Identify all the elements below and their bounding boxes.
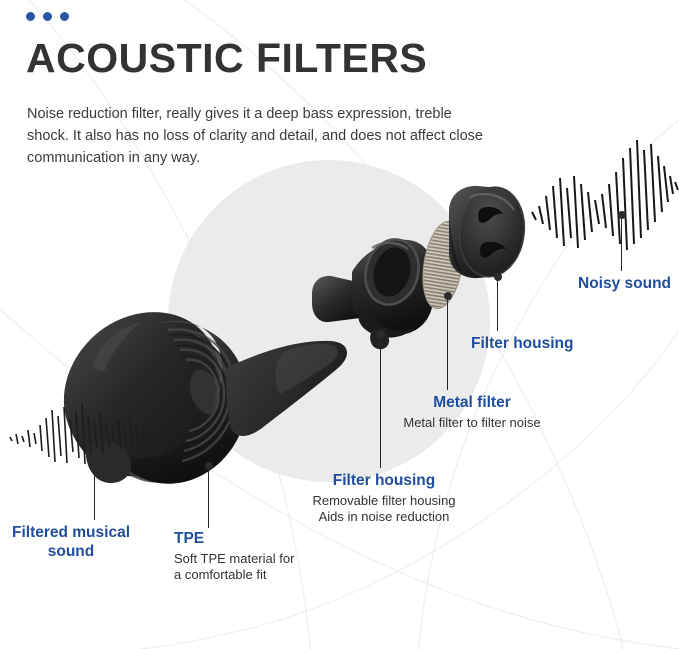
filtered-musical-waveform [10, 404, 156, 464]
leader-line-metal-filter [447, 300, 448, 390]
page-description: Noise reduction filter, really gives it … [27, 103, 497, 169]
callout-filter-housing-right: Filter housing [471, 335, 573, 354]
leader-line-tpe [208, 470, 209, 528]
header-dots [26, 12, 69, 21]
leader-line-filter-housing-center [380, 338, 381, 468]
callout-description-tpe-line1: Soft TPE material for [174, 551, 294, 567]
callout-caption-tpe: TPE [174, 530, 294, 549]
callout-description-filter-housing-line1: Removable filter housing [304, 493, 464, 509]
callout-description-tpe-line2: a comfortable fit [174, 567, 294, 583]
header-dot-1 [26, 12, 35, 21]
leader-line-noisy-sound [621, 219, 622, 271]
callout-caption-noisy-sound: Noisy sound [578, 275, 671, 294]
callout-filter-housing-center: Filter housing Removable filter housing … [304, 472, 464, 525]
callout-filtered-musical-sound: Filtered musical sound [5, 524, 137, 561]
leader-dot-filter-housing-center [377, 330, 385, 338]
callout-tpe: TPE Soft TPE material for a comfortable … [174, 530, 294, 583]
callout-description-filter-housing-line2: Aids in noise reduction [304, 509, 464, 525]
page-title: ACOUSTIC FILTERS [26, 38, 427, 79]
callout-description-metal-filter: Metal filter to filter noise [391, 415, 553, 431]
leader-line-filter-housing-right [497, 281, 498, 331]
callout-caption-filtered-line1: Filtered musical [5, 524, 137, 543]
leader-dot-filtered-sound [91, 452, 99, 460]
callout-noisy-sound: Noisy sound [578, 275, 671, 294]
callout-caption-filter-housing-right: Filter housing [471, 335, 573, 354]
leader-dot-filter-housing-right [494, 273, 502, 281]
leader-dot-noisy-sound [618, 211, 626, 219]
noisy-sound-waveform [532, 140, 678, 250]
callout-caption-filter-housing-center: Filter housing [304, 472, 464, 491]
callout-caption-metal-filter: Metal filter [391, 394, 553, 413]
header-dot-3 [60, 12, 69, 21]
acoustic-filters-infographic: ACOUSTIC FILTERS Noise reduction filter,… [0, 0, 679, 649]
leader-dot-tpe [205, 462, 213, 470]
callout-metal-filter: Metal filter Metal filter to filter nois… [391, 394, 553, 431]
callout-caption-filtered-line2: sound [5, 543, 137, 562]
leader-dot-metal-filter [444, 292, 452, 300]
header-dot-2 [43, 12, 52, 21]
backdrop-circle [168, 160, 490, 482]
leader-line-filtered-sound [94, 460, 95, 520]
